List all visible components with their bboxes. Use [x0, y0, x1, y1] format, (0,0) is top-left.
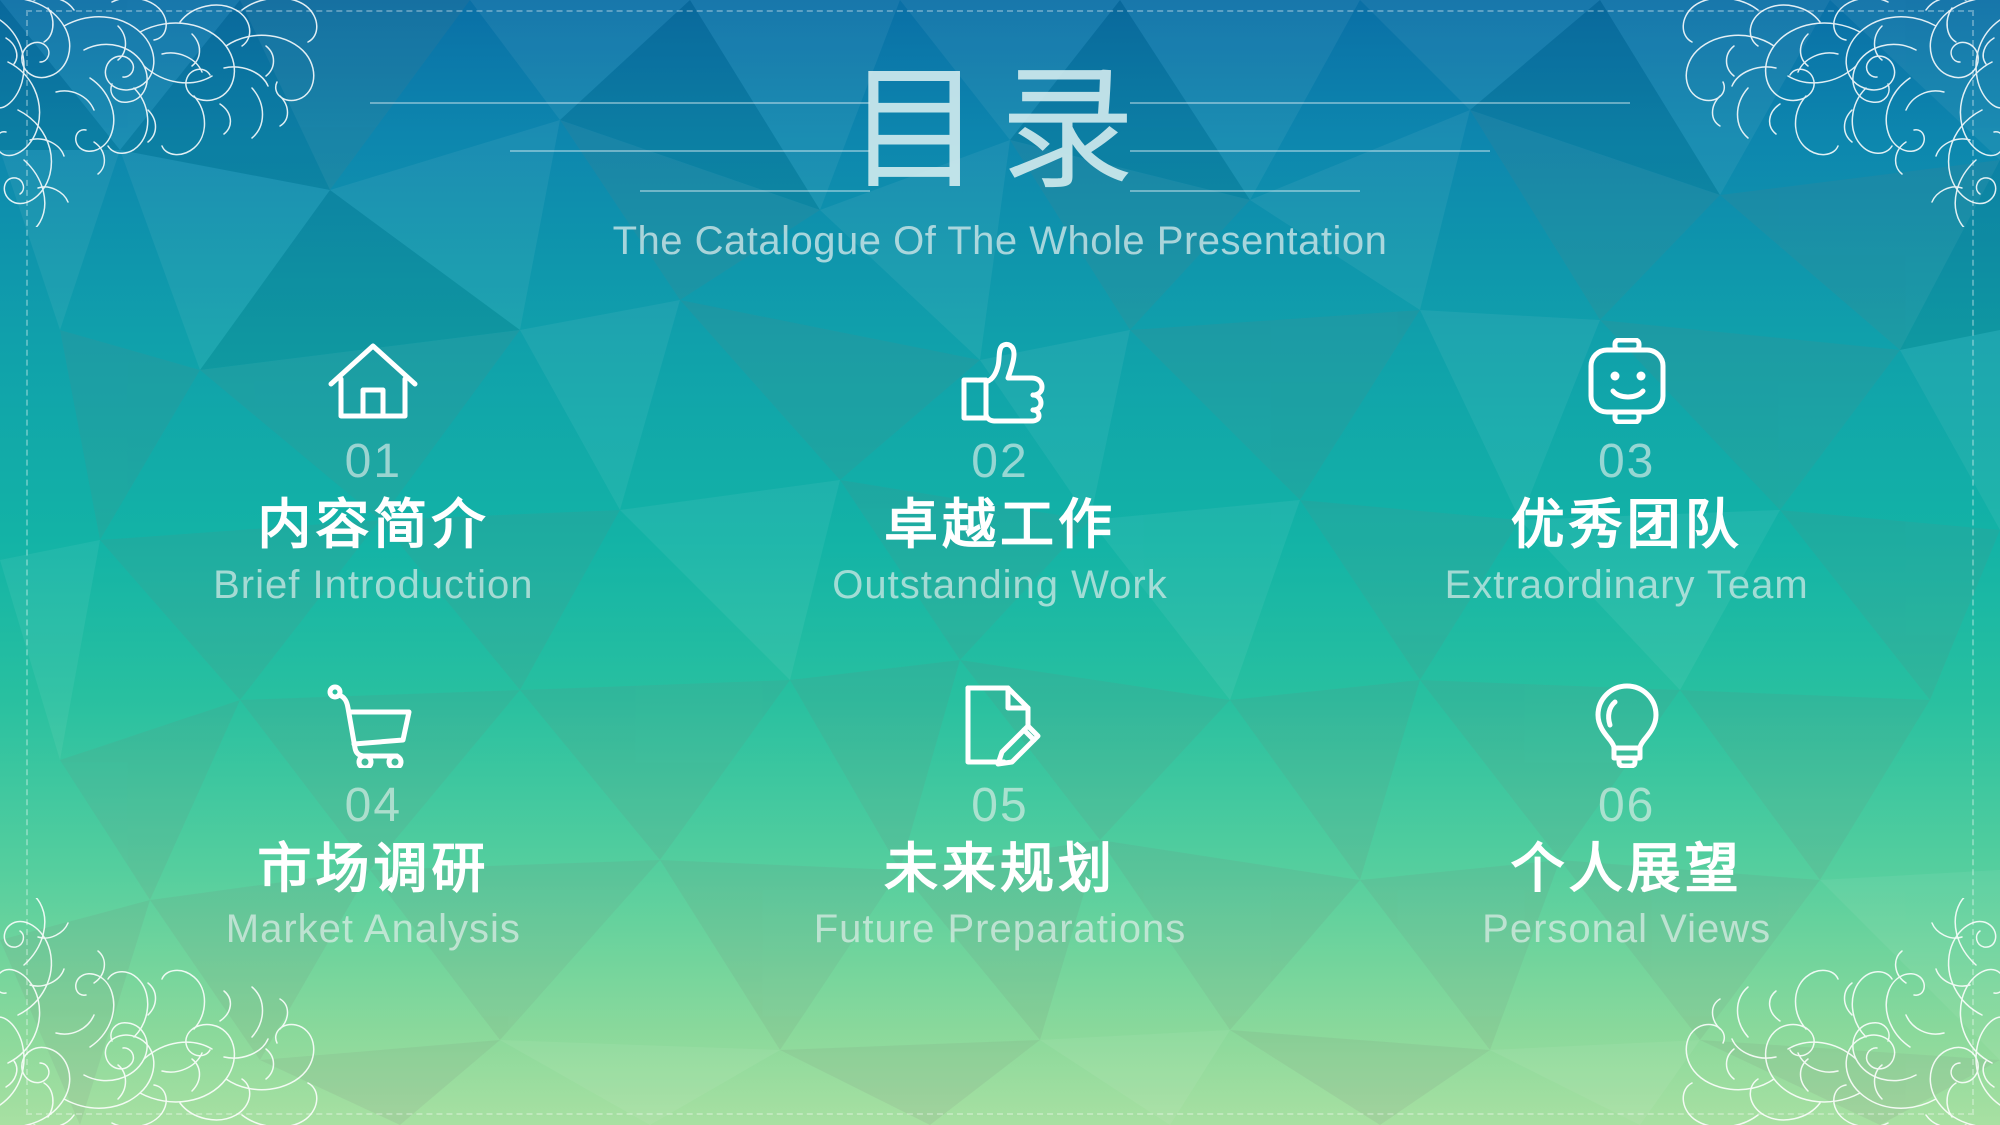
catalogue-item-06[interactable]: 06 个人展望 Personal Views — [1313, 676, 1940, 952]
catalogue-grid: 01 内容简介 Brief Introduction 02 卓越工作 Outst… — [60, 332, 1940, 952]
catalogue-item-label-cn: 市场调研 — [257, 838, 489, 900]
catalogue-item-03[interactable]: 03 优秀团队 Extraordinary Team — [1313, 332, 1940, 608]
home-icon — [325, 332, 421, 424]
catalogue-item-label-en: Outstanding Work — [832, 562, 1167, 608]
catalogue-item-label-cn: 未来规划 — [884, 838, 1116, 900]
page-title: 目录 — [813, 62, 1187, 197]
catalogue-item-02[interactable]: 02 卓越工作 Outstanding Work — [687, 332, 1314, 608]
title-decor-lines-right — [1130, 62, 1650, 197]
catalogue-item-number: 01 — [345, 438, 402, 486]
document-pencil-icon — [952, 676, 1048, 768]
catalogue-item-label-en: Brief Introduction — [213, 562, 533, 608]
catalogue-item-number: 02 — [971, 438, 1028, 486]
catalogue-item-label-en: Future Preparations — [814, 906, 1187, 952]
lightbulb-icon — [1579, 676, 1675, 768]
catalogue-item-04[interactable]: 04 市场调研 Market Analysis — [60, 676, 687, 952]
presentation-slide: 目录 The Catalogue Of The Whole Presentati… — [0, 0, 2000, 1125]
catalogue-item-number: 04 — [345, 782, 402, 830]
smiley-robot-head-icon — [1579, 332, 1675, 424]
catalogue-item-number: 03 — [1598, 438, 1655, 486]
catalogue-item-01[interactable]: 01 内容简介 Brief Introduction — [60, 332, 687, 608]
catalogue-item-label-en: Personal Views — [1482, 906, 1771, 952]
catalogue-item-05[interactable]: 05 未来规划 Future Preparations — [687, 676, 1314, 952]
catalogue-item-label-cn: 个人展望 — [1511, 838, 1743, 900]
page-subtitle: The Catalogue Of The Whole Presentation — [0, 219, 2000, 264]
catalogue-item-label-cn: 内容简介 — [257, 494, 489, 556]
thumbs-up-icon — [952, 332, 1048, 424]
slide-header: 目录 The Catalogue Of The Whole Presentati… — [0, 62, 2000, 264]
catalogue-item-label-cn: 优秀团队 — [1511, 494, 1743, 556]
title-row: 目录 — [0, 62, 2000, 197]
catalogue-item-label-cn: 卓越工作 — [884, 494, 1116, 556]
catalogue-item-label-en: Extraordinary Team — [1445, 562, 1809, 608]
shopping-cart-icon — [325, 676, 421, 768]
title-decor-lines-left — [350, 62, 870, 197]
catalogue-item-label-en: Market Analysis — [226, 906, 521, 952]
catalogue-item-number: 06 — [1598, 782, 1655, 830]
catalogue-item-number: 05 — [971, 782, 1028, 830]
